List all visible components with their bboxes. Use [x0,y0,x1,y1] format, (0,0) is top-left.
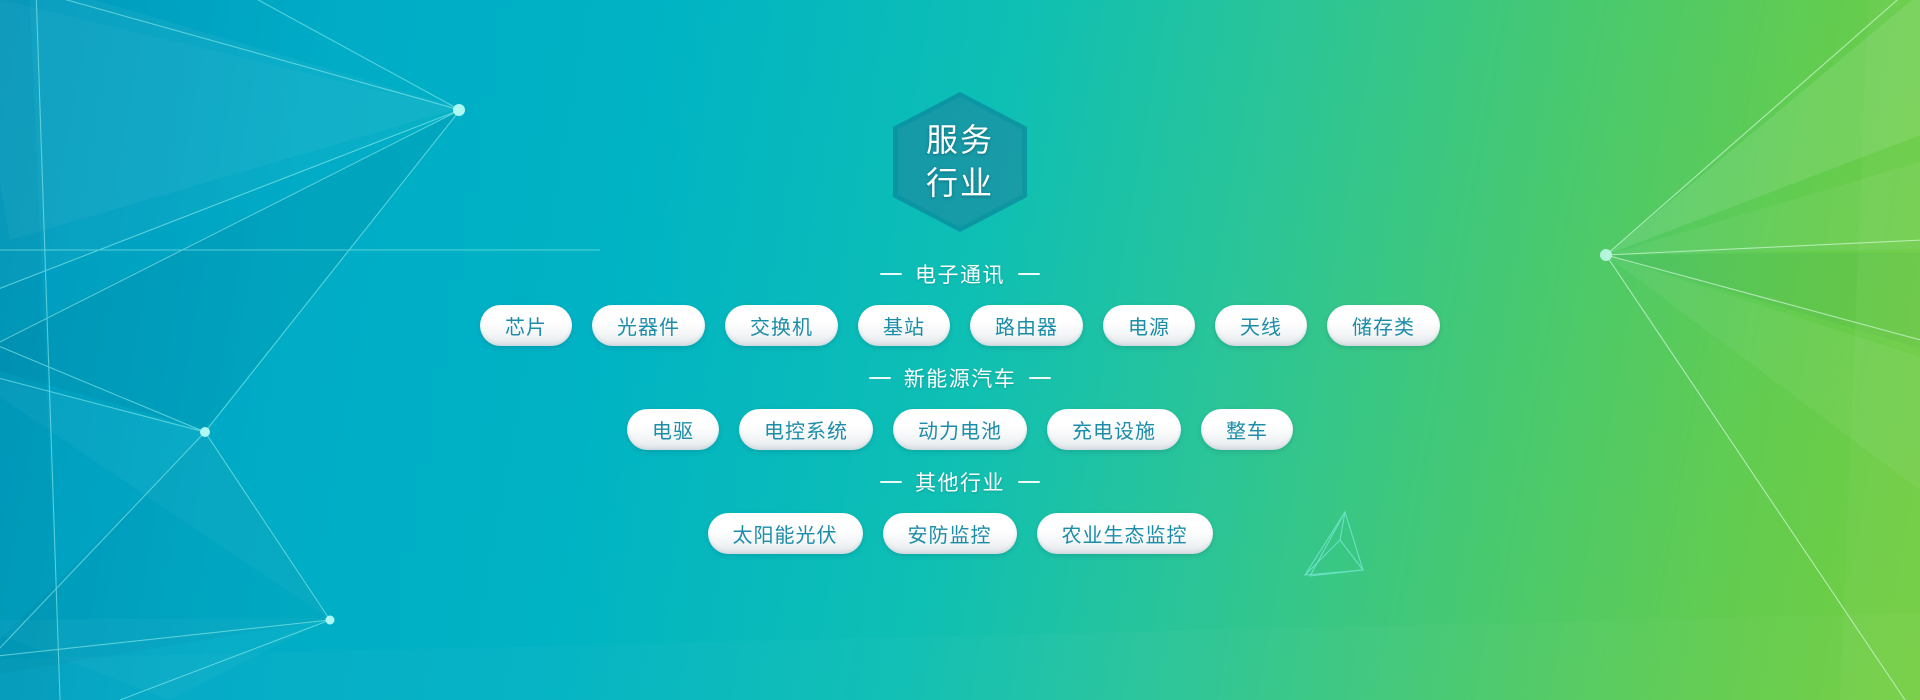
tag-power-battery[interactable]: 动力电池 [893,409,1027,450]
tag-security-monitoring[interactable]: 安防监控 [883,513,1017,554]
tag-charging-facility[interactable]: 充电设施 [1047,409,1181,450]
section-title-2-label: 新能源汽车 [904,363,1017,393]
tag-row-1: 芯片 光器件 交换机 基站 路由器 电源 天线 储存类 [480,305,1440,346]
section-other-industries: 其他行业 太阳能光伏 安防监控 农业生态监控 [0,466,1920,570]
dash-left-icon [880,273,902,275]
tag-power-supply[interactable]: 电源 [1103,305,1195,346]
service-industry-banner: 服务 行业 电子通讯 芯片 光器件 交换机 基站 路由器 电源 天线 储存类 [0,0,1920,700]
tag-whole-vehicle[interactable]: 整车 [1201,409,1293,450]
dash-left-icon [869,377,891,379]
section-title-1: 电子通讯 [880,258,1040,290]
hex-badge: 服务 行业 [893,92,1027,232]
section-new-energy-vehicles: 新能源汽车 电驱 电控系统 动力电池 充电设施 整车 [0,362,1920,466]
section-title-1-label: 电子通讯 [915,259,1005,289]
dash-right-icon [1018,273,1040,275]
section-electronic-communications: 电子通讯 芯片 光器件 交换机 基站 路由器 电源 天线 储存类 [0,258,1920,362]
tag-switch[interactable]: 交换机 [725,305,838,346]
tag-chip[interactable]: 芯片 [480,305,572,346]
category-sections: 电子通讯 芯片 光器件 交换机 基站 路由器 电源 天线 储存类 新能源汽车 [0,258,1920,570]
tag-router[interactable]: 路由器 [970,305,1083,346]
tag-electric-drive[interactable]: 电驱 [627,409,719,450]
section-title-3: 其他行业 [880,466,1040,498]
tag-electronic-control-system[interactable]: 电控系统 [739,409,873,450]
hex-badge-line-2: 行业 [926,162,994,205]
section-title-2: 新能源汽车 [869,362,1052,394]
tag-row-2: 电驱 电控系统 动力电池 充电设施 整车 [627,409,1293,450]
tag-storage[interactable]: 储存类 [1327,305,1440,346]
hex-badge-line-1: 服务 [926,119,994,162]
tag-base-station[interactable]: 基站 [858,305,950,346]
tag-solar-photovoltaic[interactable]: 太阳能光伏 [708,513,863,554]
dash-right-icon [1018,481,1040,483]
section-title-3-label: 其他行业 [915,467,1005,497]
tag-optical-device[interactable]: 光器件 [592,305,705,346]
hex-badge-wrapper: 服务 行业 [0,92,1920,232]
bottom-band [0,612,1920,700]
tag-agricultural-ecology-monitoring[interactable]: 农业生态监控 [1037,513,1213,554]
dash-right-icon [1029,377,1051,379]
dash-left-icon [880,481,902,483]
tag-antenna[interactable]: 天线 [1215,305,1307,346]
tag-row-3: 太阳能光伏 安防监控 农业生态监控 [708,513,1213,554]
